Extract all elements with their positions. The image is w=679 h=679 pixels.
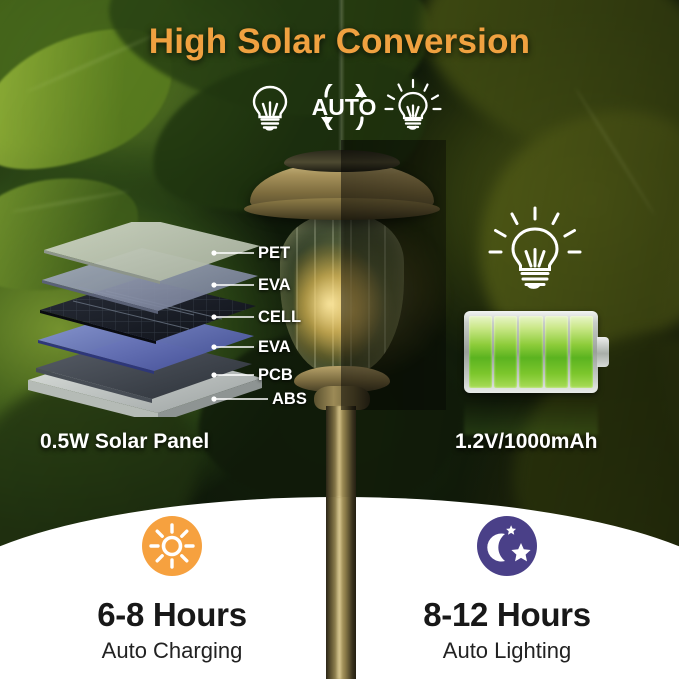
feature-label-charging: Auto Charging xyxy=(22,638,322,664)
battery-cell xyxy=(570,316,593,388)
layer-label-pet: PET xyxy=(258,244,290,263)
bulb-off-icon xyxy=(247,82,293,132)
mode-icon-row: AUTO xyxy=(247,78,437,134)
page-title: High Solar Conversion xyxy=(0,22,679,62)
sun-icon xyxy=(142,516,202,576)
solar-panel-caption: 0.5W Solar Panel xyxy=(40,430,209,454)
battery-reflection xyxy=(464,395,598,435)
layer-label-eva-lower: EVA xyxy=(258,338,291,357)
lamp-solar-cell-top xyxy=(284,150,400,172)
battery-cell xyxy=(469,316,492,388)
battery-cell xyxy=(494,316,517,388)
lamp-pole-lower-highlight xyxy=(337,497,341,679)
feature-card-lighting: 8-12 Hours Auto Lighting xyxy=(357,516,657,664)
lamp-pole-lower xyxy=(326,497,356,679)
moon-stars-icon xyxy=(477,516,537,576)
solar-panel-labels: PET EVA CELL EVA PCB ABS xyxy=(210,222,320,417)
auto-label: AUTO xyxy=(312,94,377,120)
layer-label-abs: ABS xyxy=(272,390,307,409)
layer-label-pcb: PCB xyxy=(258,366,293,385)
bulb-on-icon-large xyxy=(487,205,583,301)
battery-cell xyxy=(519,316,542,388)
feature-value-charging: 6-8 Hours xyxy=(22,596,322,634)
layer-label-eva-upper: EVA xyxy=(258,276,291,295)
battery-caption: 1.2V/1000mAh xyxy=(455,430,597,454)
battery-terminal xyxy=(597,337,609,367)
bulb-on-icon xyxy=(384,78,442,136)
battery-cell xyxy=(545,316,568,388)
battery-icon xyxy=(464,311,611,393)
layer-label-cell: CELL xyxy=(258,308,301,327)
feature-label-lighting: Auto Lighting xyxy=(357,638,657,664)
lamp-cap-lip xyxy=(244,198,440,220)
feature-value-lighting: 8-12 Hours xyxy=(357,596,657,634)
product-infographic: High Solar Conversion AUTO xyxy=(0,0,679,679)
auto-cycle-icon[interactable]: AUTO xyxy=(304,84,384,130)
battery-body xyxy=(464,311,598,393)
feature-card-charging: 6-8 Hours Auto Charging xyxy=(22,516,322,664)
